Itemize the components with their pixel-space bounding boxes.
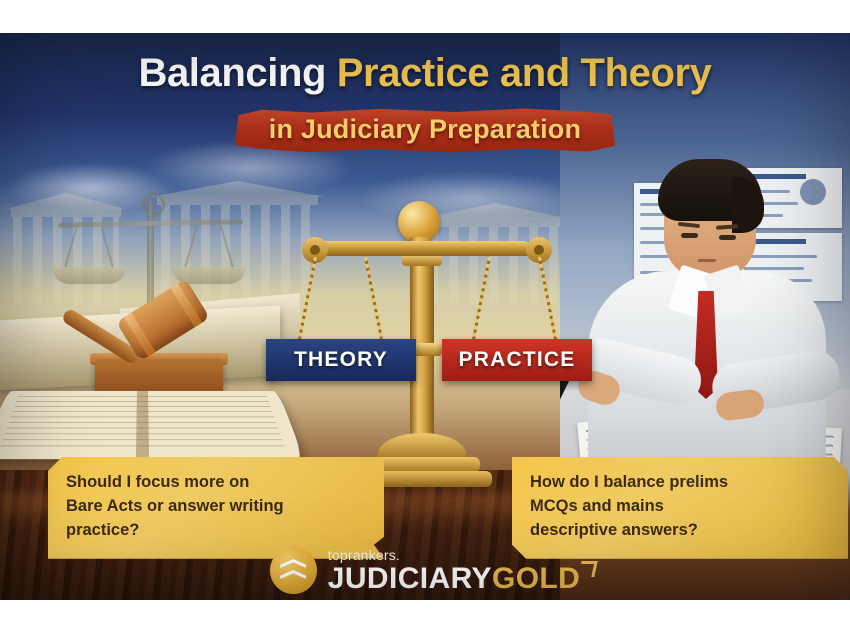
logo-name: JUDICIARYGOLD <box>328 564 580 594</box>
trademark-icon <box>579 561 598 577</box>
question-callout-right: How do I balance prelims MCQs and mains … <box>512 457 848 559</box>
question-line: How do I balance prelims <box>530 471 830 495</box>
brand-logo: toprankers. JUDICIARYGOLD <box>0 547 850 594</box>
poster-canvas: THEORY PRACTICE Balancing Practice and T… <box>0 33 850 600</box>
question-line: MCQs and mains <box>530 495 830 519</box>
question-line: Bare Acts or answer writing <box>66 495 366 519</box>
question-line: practice? <box>66 519 366 543</box>
subtitle-wrapper: in Judiciary Preparation <box>0 108 850 153</box>
poster-page: THEORY PRACTICE Balancing Practice and T… <box>0 0 850 638</box>
poster-headline: Balancing Practice and Theory <box>0 53 850 93</box>
question-line: descriptive answers? <box>530 519 830 543</box>
headline-part-gold: Practice and Theory <box>337 51 712 95</box>
logo-text: toprankers. JUDICIARYGOLD <box>328 548 580 594</box>
logo-tagline: toprankers. <box>328 548 400 562</box>
open-book <box>0 391 304 459</box>
headline-part-white: Balancing <box>138 51 336 95</box>
student-illustration <box>582 151 832 481</box>
gavel-icon <box>60 293 240 403</box>
law-books-gavel-scene <box>0 183 300 483</box>
question-callout-left: Should I focus more on Bare Acts or answ… <box>48 457 384 559</box>
practice-plaque: PRACTICE <box>442 339 592 381</box>
balance-scale-icon: THEORY PRACTICE <box>282 193 572 493</box>
subtitle-brush-banner: in Judiciary Preparation <box>235 108 615 153</box>
logo-name-primary: JUDICIARY <box>328 562 492 595</box>
theory-plaque: THEORY <box>266 339 416 381</box>
question-line: Should I focus more on <box>66 471 366 495</box>
double-chevron-up-icon <box>270 547 317 594</box>
poster-subtitle: in Judiciary Preparation <box>269 114 581 144</box>
logo-name-secondary: GOLD <box>492 562 580 595</box>
